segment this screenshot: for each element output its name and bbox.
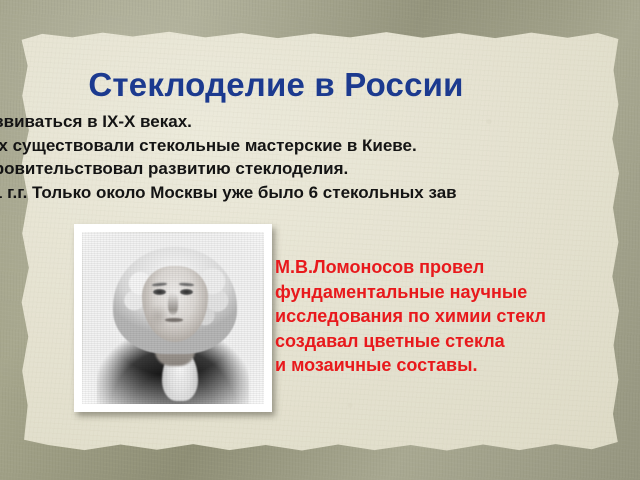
caption-line-3: исследования по химии стекл <box>275 304 640 329</box>
page-title: Стеклоделие в России <box>0 66 552 104</box>
body-text-block: ало развиваться в IX-X веках. XI веках с… <box>0 110 640 204</box>
lomonosov-caption-block: М.В.Ломоносов провел фундаментальные нау… <box>275 255 640 378</box>
body-line-3: о I покровительствовал развитию стеклоде… <box>0 157 640 181</box>
portrait-grain-texture <box>82 232 264 404</box>
caption-line-5: и мозаичные составы. <box>275 353 640 378</box>
presentation-slide: Стеклоделие в России ало развиваться в I… <box>0 0 640 480</box>
portrait-frame <box>74 224 272 412</box>
body-line-2: XI веках существовали стекольные мастерс… <box>0 134 640 158</box>
portrait-lomonosov-image <box>82 232 264 404</box>
caption-line-4: создавал цветные стекла <box>275 329 640 354</box>
caption-line-2: фундаментальные научные <box>275 280 640 305</box>
slide-content: Стеклоделие в России ало развиваться в I… <box>0 0 640 480</box>
caption-line-1: М.В.Ломоносов провел <box>275 255 640 280</box>
body-line-1: ало развиваться в IX-X веках. <box>0 110 640 134</box>
body-line-4: 41-1761 г.г. Только около Москвы уже был… <box>0 181 640 205</box>
